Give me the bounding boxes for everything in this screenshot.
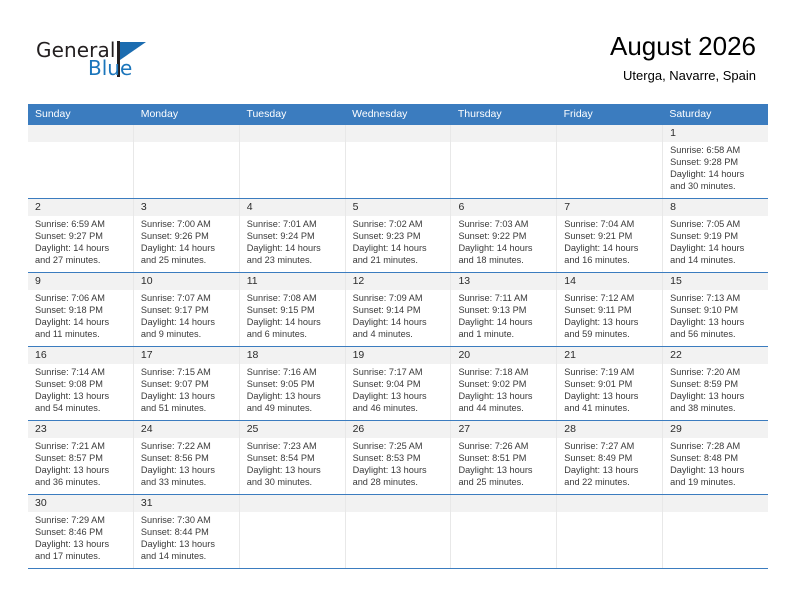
daylight-text-line1: Daylight: 13 hours	[670, 464, 763, 476]
day-sun-info: Sunrise: 7:12 AMSunset: 9:11 PMDaylight:…	[557, 290, 662, 340]
day-number	[451, 125, 556, 142]
day-number	[240, 125, 345, 142]
sunrise-text: Sunrise: 7:19 AM	[564, 366, 657, 378]
sunrise-text: Sunrise: 7:11 AM	[458, 292, 551, 304]
sunrise-text: Sunrise: 7:23 AM	[247, 440, 340, 452]
sunrise-text: Sunrise: 7:07 AM	[141, 292, 234, 304]
day-cell[interactable]: 4Sunrise: 7:01 AMSunset: 9:24 PMDaylight…	[240, 199, 346, 272]
daylight-text-line2: and 19 minutes.	[670, 476, 763, 488]
daylight-text-line2: and 25 minutes.	[141, 254, 234, 266]
day-cell[interactable]: 20Sunrise: 7:18 AMSunset: 9:02 PMDayligh…	[451, 347, 557, 420]
day-number: 13	[451, 273, 556, 290]
sunset-text: Sunset: 8:44 PM	[141, 526, 234, 538]
day-number: 27	[451, 421, 556, 438]
day-number: 24	[134, 421, 239, 438]
day-cell[interactable]: 2Sunrise: 6:59 AMSunset: 9:27 PMDaylight…	[28, 199, 134, 272]
day-number: 2	[28, 199, 133, 216]
day-cell[interactable]: 9Sunrise: 7:06 AMSunset: 9:18 PMDaylight…	[28, 273, 134, 346]
daylight-text-line2: and 56 minutes.	[670, 328, 763, 340]
day-sun-info: Sunrise: 7:02 AMSunset: 9:23 PMDaylight:…	[346, 216, 451, 266]
weekday-header-tuesday: Tuesday	[239, 104, 345, 125]
daylight-text-line2: and 30 minutes.	[247, 476, 340, 488]
day-number: 12	[346, 273, 451, 290]
daylight-text-line1: Daylight: 14 hours	[141, 242, 234, 254]
day-number	[346, 125, 451, 142]
day-number: 25	[240, 421, 345, 438]
daylight-text-line1: Daylight: 14 hours	[247, 242, 340, 254]
day-sun-info: Sunrise: 7:05 AMSunset: 9:19 PMDaylight:…	[663, 216, 768, 266]
sunrise-text: Sunrise: 7:16 AM	[247, 366, 340, 378]
daylight-text-line1: Daylight: 13 hours	[670, 316, 763, 328]
calendar-week-row: 16Sunrise: 7:14 AMSunset: 9:08 PMDayligh…	[28, 347, 768, 421]
logo-text-blue: Blue	[88, 58, 132, 78]
day-number	[663, 495, 768, 512]
daylight-text-line1: Daylight: 14 hours	[247, 316, 340, 328]
page-title: August 2026	[610, 30, 756, 62]
sunrise-text: Sunrise: 7:08 AM	[247, 292, 340, 304]
day-sun-info: Sunrise: 7:16 AMSunset: 9:05 PMDaylight:…	[240, 364, 345, 414]
day-cell[interactable]: 18Sunrise: 7:16 AMSunset: 9:05 PMDayligh…	[240, 347, 346, 420]
day-sun-info	[451, 512, 556, 514]
daylight-text-line2: and 54 minutes.	[35, 402, 128, 414]
day-number: 4	[240, 199, 345, 216]
sunset-text: Sunset: 8:51 PM	[458, 452, 551, 464]
sunrise-text: Sunrise: 7:28 AM	[670, 440, 763, 452]
day-number: 21	[557, 347, 662, 364]
daylight-text-line1: Daylight: 14 hours	[670, 168, 763, 180]
day-sun-info	[240, 512, 345, 514]
day-sun-info: Sunrise: 7:20 AMSunset: 8:59 PMDaylight:…	[663, 364, 768, 414]
day-sun-info: Sunrise: 7:18 AMSunset: 9:02 PMDaylight:…	[451, 364, 556, 414]
sunrise-text: Sunrise: 7:13 AM	[670, 292, 763, 304]
day-number	[557, 495, 662, 512]
day-cell-empty	[557, 125, 663, 198]
day-cell[interactable]: 13Sunrise: 7:11 AMSunset: 9:13 PMDayligh…	[451, 273, 557, 346]
weekday-header-sunday: Sunday	[28, 104, 134, 125]
daylight-text-line1: Daylight: 14 hours	[141, 316, 234, 328]
sunrise-text: Sunrise: 6:59 AM	[35, 218, 128, 230]
day-cell[interactable]: 24Sunrise: 7:22 AMSunset: 8:56 PMDayligh…	[134, 421, 240, 494]
sunrise-text: Sunrise: 7:17 AM	[353, 366, 446, 378]
day-number: 23	[28, 421, 133, 438]
daylight-text-line2: and 11 minutes.	[35, 328, 128, 340]
daylight-text-line1: Daylight: 13 hours	[458, 464, 551, 476]
day-number: 8	[663, 199, 768, 216]
sunset-text: Sunset: 9:11 PM	[564, 304, 657, 316]
day-sun-info: Sunrise: 7:17 AMSunset: 9:04 PMDaylight:…	[346, 364, 451, 414]
daylight-text-line2: and 38 minutes.	[670, 402, 763, 414]
day-sun-info: Sunrise: 7:13 AMSunset: 9:10 PMDaylight:…	[663, 290, 768, 340]
day-cell[interactable]: 6Sunrise: 7:03 AMSunset: 9:22 PMDaylight…	[451, 199, 557, 272]
daylight-text-line2: and 6 minutes.	[247, 328, 340, 340]
day-number	[240, 495, 345, 512]
daylight-text-line2: and 59 minutes.	[564, 328, 657, 340]
sunset-text: Sunset: 9:19 PM	[670, 230, 763, 242]
daylight-text-line1: Daylight: 13 hours	[141, 538, 234, 550]
sunset-text: Sunset: 8:57 PM	[35, 452, 128, 464]
page-subtitle: Uterga, Navarre, Spain	[610, 68, 756, 84]
sunrise-text: Sunrise: 7:09 AM	[353, 292, 446, 304]
daylight-text-line2: and 4 minutes.	[353, 328, 446, 340]
day-number	[28, 125, 133, 142]
day-cell[interactable]: 28Sunrise: 7:27 AMSunset: 8:49 PMDayligh…	[557, 421, 663, 494]
sunrise-text: Sunrise: 7:04 AM	[564, 218, 657, 230]
daylight-text-line2: and 25 minutes.	[458, 476, 551, 488]
calendar-page: General Blue August 2026 Uterga, Navarre…	[0, 0, 792, 612]
sunset-text: Sunset: 9:21 PM	[564, 230, 657, 242]
daylight-text-line1: Daylight: 13 hours	[247, 464, 340, 476]
day-cell-empty	[346, 125, 452, 198]
day-sun-info: Sunrise: 7:09 AMSunset: 9:14 PMDaylight:…	[346, 290, 451, 340]
day-sun-info: Sunrise: 7:21 AMSunset: 8:57 PMDaylight:…	[28, 438, 133, 488]
day-number: 20	[451, 347, 556, 364]
sunset-text: Sunset: 8:46 PM	[35, 526, 128, 538]
daylight-text-line1: Daylight: 13 hours	[247, 390, 340, 402]
sunrise-text: Sunrise: 7:15 AM	[141, 366, 234, 378]
daylight-text-line2: and 17 minutes.	[35, 550, 128, 562]
sunrise-text: Sunrise: 7:26 AM	[458, 440, 551, 452]
day-number: 28	[557, 421, 662, 438]
calendar-week-row: 30Sunrise: 7:29 AMSunset: 8:46 PMDayligh…	[28, 495, 768, 569]
day-sun-info	[346, 512, 451, 514]
day-cell[interactable]: 10Sunrise: 7:07 AMSunset: 9:17 PMDayligh…	[134, 273, 240, 346]
sunrise-text: Sunrise: 7:20 AM	[670, 366, 763, 378]
sunset-text: Sunset: 9:07 PM	[141, 378, 234, 390]
day-sun-info: Sunrise: 7:28 AMSunset: 8:48 PMDaylight:…	[663, 438, 768, 488]
day-number	[346, 495, 451, 512]
day-sun-info: Sunrise: 7:29 AMSunset: 8:46 PMDaylight:…	[28, 512, 133, 562]
title-block: August 2026 Uterga, Navarre, Spain	[610, 30, 756, 84]
day-sun-info: Sunrise: 7:19 AMSunset: 9:01 PMDaylight:…	[557, 364, 662, 414]
day-cell[interactable]: 26Sunrise: 7:25 AMSunset: 8:53 PMDayligh…	[346, 421, 452, 494]
sunset-text: Sunset: 8:56 PM	[141, 452, 234, 464]
weekday-header-thursday: Thursday	[451, 104, 557, 125]
daylight-text-line2: and 23 minutes.	[247, 254, 340, 266]
day-sun-info: Sunrise: 7:23 AMSunset: 8:54 PMDaylight:…	[240, 438, 345, 488]
day-sun-info: Sunrise: 7:08 AMSunset: 9:15 PMDaylight:…	[240, 290, 345, 340]
day-number: 6	[451, 199, 556, 216]
daylight-text-line2: and 44 minutes.	[458, 402, 551, 414]
day-sun-info: Sunrise: 7:27 AMSunset: 8:49 PMDaylight:…	[557, 438, 662, 488]
daylight-text-line1: Daylight: 13 hours	[35, 390, 128, 402]
day-number: 16	[28, 347, 133, 364]
sunrise-text: Sunrise: 7:14 AM	[35, 366, 128, 378]
weekday-header-saturday: Saturday	[662, 104, 768, 125]
daylight-text-line2: and 28 minutes.	[353, 476, 446, 488]
calendar-week-row: 23Sunrise: 7:21 AMSunset: 8:57 PMDayligh…	[28, 421, 768, 495]
daylight-text-line1: Daylight: 13 hours	[564, 390, 657, 402]
day-sun-info: Sunrise: 7:15 AMSunset: 9:07 PMDaylight:…	[134, 364, 239, 414]
day-number: 10	[134, 273, 239, 290]
day-cell[interactable]: 15Sunrise: 7:13 AMSunset: 9:10 PMDayligh…	[663, 273, 768, 346]
calendar-week-row: 2Sunrise: 6:59 AMSunset: 9:27 PMDaylight…	[28, 199, 768, 273]
day-number: 15	[663, 273, 768, 290]
day-sun-info: Sunrise: 7:03 AMSunset: 9:22 PMDaylight:…	[451, 216, 556, 266]
sunset-text: Sunset: 8:53 PM	[353, 452, 446, 464]
daylight-text-line2: and 51 minutes.	[141, 402, 234, 414]
daylight-text-line2: and 18 minutes.	[458, 254, 551, 266]
sunset-text: Sunset: 9:24 PM	[247, 230, 340, 242]
day-sun-info: Sunrise: 7:25 AMSunset: 8:53 PMDaylight:…	[346, 438, 451, 488]
sunrise-text: Sunrise: 7:00 AM	[141, 218, 234, 230]
daylight-text-line1: Daylight: 13 hours	[670, 390, 763, 402]
day-sun-info: Sunrise: 6:59 AMSunset: 9:27 PMDaylight:…	[28, 216, 133, 266]
day-sun-info	[557, 512, 662, 514]
daylight-text-line1: Daylight: 14 hours	[458, 316, 551, 328]
general-blue-logo[interactable]: General Blue	[36, 40, 216, 90]
day-number: 19	[346, 347, 451, 364]
day-sun-info	[240, 142, 345, 144]
weekday-header-row: SundayMondayTuesdayWednesdayThursdayFrid…	[28, 104, 768, 125]
weekday-header-monday: Monday	[134, 104, 240, 125]
daylight-text-line2: and 41 minutes.	[564, 402, 657, 414]
daylight-text-line2: and 14 minutes.	[141, 550, 234, 562]
sunrise-text: Sunrise: 7:30 AM	[141, 514, 234, 526]
day-number: 17	[134, 347, 239, 364]
day-number: 1	[663, 125, 768, 142]
day-cell-empty	[663, 495, 768, 568]
sunset-text: Sunset: 9:27 PM	[35, 230, 128, 242]
day-cell-empty	[134, 125, 240, 198]
daylight-text-line1: Daylight: 14 hours	[35, 242, 128, 254]
day-cell-empty	[451, 125, 557, 198]
daylight-text-line1: Daylight: 14 hours	[35, 316, 128, 328]
day-cell[interactable]: 5Sunrise: 7:02 AMSunset: 9:23 PMDaylight…	[346, 199, 452, 272]
sunset-text: Sunset: 8:49 PM	[564, 452, 657, 464]
day-number: 18	[240, 347, 345, 364]
daylight-text-line2: and 22 minutes.	[564, 476, 657, 488]
day-cell[interactable]: 19Sunrise: 7:17 AMSunset: 9:04 PMDayligh…	[346, 347, 452, 420]
day-sun-info	[134, 142, 239, 144]
daylight-text-line1: Daylight: 14 hours	[670, 242, 763, 254]
daylight-text-line1: Daylight: 13 hours	[141, 464, 234, 476]
sunrise-text: Sunrise: 7:25 AM	[353, 440, 446, 452]
daylight-text-line2: and 46 minutes.	[353, 402, 446, 414]
day-cell[interactable]: 14Sunrise: 7:12 AMSunset: 9:11 PMDayligh…	[557, 273, 663, 346]
sunrise-text: Sunrise: 7:21 AM	[35, 440, 128, 452]
day-cell[interactable]: 8Sunrise: 7:05 AMSunset: 9:19 PMDaylight…	[663, 199, 768, 272]
sunrise-text: Sunrise: 7:03 AM	[458, 218, 551, 230]
sunset-text: Sunset: 9:08 PM	[35, 378, 128, 390]
daylight-text-line2: and 1 minute.	[458, 328, 551, 340]
daylight-text-line1: Daylight: 13 hours	[353, 464, 446, 476]
day-cell[interactable]: 16Sunrise: 7:14 AMSunset: 9:08 PMDayligh…	[28, 347, 134, 420]
daylight-text-line1: Daylight: 14 hours	[458, 242, 551, 254]
calendar-week-row: 1Sunrise: 6:58 AMSunset: 9:28 PMDaylight…	[28, 125, 768, 199]
day-cell-empty	[240, 495, 346, 568]
day-number: 11	[240, 273, 345, 290]
daylight-text-line2: and 33 minutes.	[141, 476, 234, 488]
day-sun-info: Sunrise: 7:01 AMSunset: 9:24 PMDaylight:…	[240, 216, 345, 266]
day-sun-info: Sunrise: 7:14 AMSunset: 9:08 PMDaylight:…	[28, 364, 133, 414]
daylight-text-line1: Daylight: 13 hours	[564, 316, 657, 328]
sunrise-text: Sunrise: 7:02 AM	[353, 218, 446, 230]
day-cell[interactable]: 25Sunrise: 7:23 AMSunset: 8:54 PMDayligh…	[240, 421, 346, 494]
sunset-text: Sunset: 8:54 PM	[247, 452, 340, 464]
daylight-text-line1: Daylight: 13 hours	[353, 390, 446, 402]
day-sun-info	[346, 142, 451, 144]
daylight-text-line1: Daylight: 13 hours	[35, 464, 128, 476]
day-number	[557, 125, 662, 142]
sunset-text: Sunset: 9:17 PM	[141, 304, 234, 316]
day-cell[interactable]: 21Sunrise: 7:19 AMSunset: 9:01 PMDayligh…	[557, 347, 663, 420]
day-cell-empty	[451, 495, 557, 568]
day-sun-info: Sunrise: 7:07 AMSunset: 9:17 PMDaylight:…	[134, 290, 239, 340]
calendar-body: 1Sunrise: 6:58 AMSunset: 9:28 PMDaylight…	[28, 125, 768, 569]
sunset-text: Sunset: 9:05 PM	[247, 378, 340, 390]
day-cell[interactable]: 23Sunrise: 7:21 AMSunset: 8:57 PMDayligh…	[28, 421, 134, 494]
day-cell-empty	[346, 495, 452, 568]
day-cell-empty	[240, 125, 346, 198]
daylight-text-line2: and 36 minutes.	[35, 476, 128, 488]
day-cell[interactable]: 3Sunrise: 7:00 AMSunset: 9:26 PMDaylight…	[134, 199, 240, 272]
daylight-text-line2: and 14 minutes.	[670, 254, 763, 266]
day-sun-info: Sunrise: 7:04 AMSunset: 9:21 PMDaylight:…	[557, 216, 662, 266]
day-cell[interactable]: 12Sunrise: 7:09 AMSunset: 9:14 PMDayligh…	[346, 273, 452, 346]
day-sun-info: Sunrise: 7:30 AMSunset: 8:44 PMDaylight:…	[134, 512, 239, 562]
day-number: 22	[663, 347, 768, 364]
sunrise-text: Sunrise: 7:01 AM	[247, 218, 340, 230]
day-number: 5	[346, 199, 451, 216]
sunset-text: Sunset: 8:59 PM	[670, 378, 763, 390]
day-cell[interactable]: 27Sunrise: 7:26 AMSunset: 8:51 PMDayligh…	[451, 421, 557, 494]
calendar-grid: SundayMondayTuesdayWednesdayThursdayFrid…	[28, 104, 768, 569]
day-number: 3	[134, 199, 239, 216]
day-cell[interactable]: 31Sunrise: 7:30 AMSunset: 8:44 PMDayligh…	[134, 495, 240, 568]
sunset-text: Sunset: 9:28 PM	[670, 156, 763, 168]
day-cell-empty	[557, 495, 663, 568]
sunrise-text: Sunrise: 7:12 AM	[564, 292, 657, 304]
sunset-text: Sunset: 8:48 PM	[670, 452, 763, 464]
sunset-text: Sunset: 9:26 PM	[141, 230, 234, 242]
day-cell[interactable]: 29Sunrise: 7:28 AMSunset: 8:48 PMDayligh…	[663, 421, 768, 494]
sunrise-text: Sunrise: 7:27 AM	[564, 440, 657, 452]
day-cell[interactable]: 17Sunrise: 7:15 AMSunset: 9:07 PMDayligh…	[134, 347, 240, 420]
daylight-text-line1: Daylight: 13 hours	[458, 390, 551, 402]
daylight-text-line2: and 49 minutes.	[247, 402, 340, 414]
daylight-text-line1: Daylight: 13 hours	[564, 464, 657, 476]
sunrise-text: Sunrise: 7:22 AM	[141, 440, 234, 452]
sunrise-text: Sunrise: 7:29 AM	[35, 514, 128, 526]
day-cell-empty	[28, 125, 134, 198]
sunset-text: Sunset: 9:14 PM	[353, 304, 446, 316]
sunset-text: Sunset: 9:15 PM	[247, 304, 340, 316]
sunrise-text: Sunrise: 7:05 AM	[670, 218, 763, 230]
day-sun-info	[451, 142, 556, 144]
sunrise-text: Sunrise: 6:58 AM	[670, 144, 763, 156]
sunset-text: Sunset: 9:01 PM	[564, 378, 657, 390]
daylight-text-line1: Daylight: 14 hours	[353, 242, 446, 254]
sunset-text: Sunset: 9:10 PM	[670, 304, 763, 316]
daylight-text-line2: and 16 minutes.	[564, 254, 657, 266]
day-number	[134, 125, 239, 142]
sunrise-text: Sunrise: 7:06 AM	[35, 292, 128, 304]
daylight-text-line2: and 30 minutes.	[670, 180, 763, 192]
day-cell[interactable]: 11Sunrise: 7:08 AMSunset: 9:15 PMDayligh…	[240, 273, 346, 346]
day-cell[interactable]: 22Sunrise: 7:20 AMSunset: 8:59 PMDayligh…	[663, 347, 768, 420]
day-number: 7	[557, 199, 662, 216]
sunset-text: Sunset: 9:22 PM	[458, 230, 551, 242]
day-cell[interactable]: 7Sunrise: 7:04 AMSunset: 9:21 PMDaylight…	[557, 199, 663, 272]
daylight-text-line2: and 27 minutes.	[35, 254, 128, 266]
day-number: 30	[28, 495, 133, 512]
day-sun-info: Sunrise: 7:06 AMSunset: 9:18 PMDaylight:…	[28, 290, 133, 340]
daylight-text-line2: and 9 minutes.	[141, 328, 234, 340]
weekday-header-wednesday: Wednesday	[345, 104, 451, 125]
sunrise-text: Sunrise: 7:18 AM	[458, 366, 551, 378]
day-number: 29	[663, 421, 768, 438]
weekday-header-friday: Friday	[557, 104, 663, 125]
daylight-text-line1: Daylight: 13 hours	[35, 538, 128, 550]
day-sun-info: Sunrise: 6:58 AMSunset: 9:28 PMDaylight:…	[663, 142, 768, 192]
daylight-text-line1: Daylight: 14 hours	[353, 316, 446, 328]
day-sun-info: Sunrise: 7:26 AMSunset: 8:51 PMDaylight:…	[451, 438, 556, 488]
sunset-text: Sunset: 9:18 PM	[35, 304, 128, 316]
daylight-text-line1: Daylight: 14 hours	[564, 242, 657, 254]
page-header: General Blue August 2026 Uterga, Navarre…	[0, 0, 792, 100]
day-number: 26	[346, 421, 451, 438]
day-sun-info	[28, 142, 133, 144]
day-number: 9	[28, 273, 133, 290]
day-number: 31	[134, 495, 239, 512]
daylight-text-line1: Daylight: 13 hours	[141, 390, 234, 402]
sunset-text: Sunset: 9:23 PM	[353, 230, 446, 242]
daylight-text-line2: and 21 minutes.	[353, 254, 446, 266]
sunset-text: Sunset: 9:13 PM	[458, 304, 551, 316]
day-sun-info: Sunrise: 7:22 AMSunset: 8:56 PMDaylight:…	[134, 438, 239, 488]
sunset-text: Sunset: 9:02 PM	[458, 378, 551, 390]
day-sun-info	[663, 512, 768, 514]
day-cell[interactable]: 1Sunrise: 6:58 AMSunset: 9:28 PMDaylight…	[663, 125, 768, 198]
day-number: 14	[557, 273, 662, 290]
day-cell[interactable]: 30Sunrise: 7:29 AMSunset: 8:46 PMDayligh…	[28, 495, 134, 568]
day-sun-info: Sunrise: 7:00 AMSunset: 9:26 PMDaylight:…	[134, 216, 239, 266]
sunset-text: Sunset: 9:04 PM	[353, 378, 446, 390]
calendar-week-row: 9Sunrise: 7:06 AMSunset: 9:18 PMDaylight…	[28, 273, 768, 347]
day-sun-info: Sunrise: 7:11 AMSunset: 9:13 PMDaylight:…	[451, 290, 556, 340]
day-number	[451, 495, 556, 512]
day-sun-info	[557, 142, 662, 144]
